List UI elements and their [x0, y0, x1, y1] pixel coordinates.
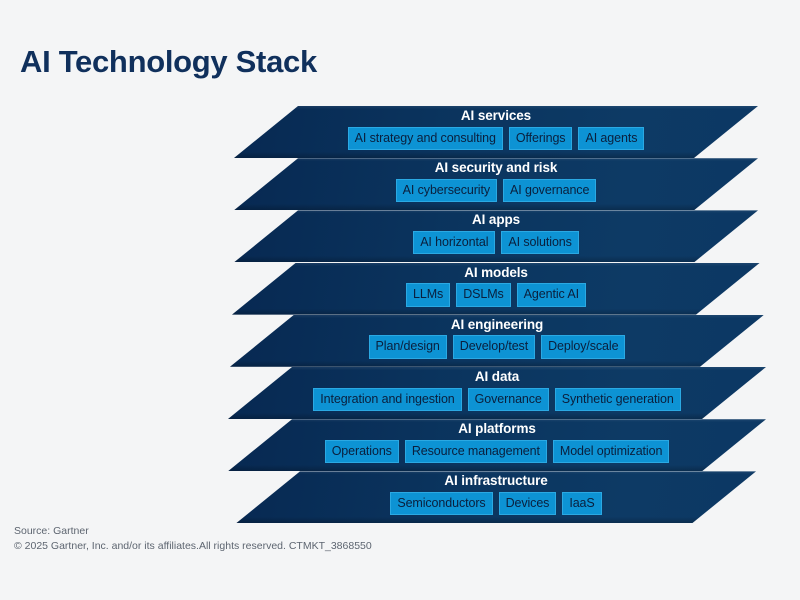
layer-content: AI engineeringPlan/designDevelop/testDep…: [0, 315, 800, 367]
layer-tag[interactable]: Integration and ingestion: [313, 388, 461, 412]
layer-tag[interactable]: LLMs: [406, 283, 450, 307]
footer: Source: Gartner © 2025 Gartner, Inc. and…: [14, 524, 372, 554]
stack-layer[interactable]: AI security and riskAI cybersecurityAI g…: [0, 158, 800, 210]
layer-tag[interactable]: AI horizontal: [413, 231, 495, 255]
layer-content: AI security and riskAI cybersecurityAI g…: [0, 158, 800, 210]
layer-title: AI data: [475, 370, 519, 384]
layer-tag-row: LLMsDSLMsAgentic AI: [406, 283, 586, 307]
layer-title: AI infrastructure: [444, 474, 547, 488]
layer-tag[interactable]: AI solutions: [501, 231, 578, 255]
layer-tag-row: AI cybersecurityAI governance: [396, 179, 597, 203]
stack-layer[interactable]: AI platformsOperationsResource managemen…: [0, 419, 800, 471]
layer-tag[interactable]: Resource management: [405, 440, 547, 464]
layer-tag[interactable]: AI cybersecurity: [396, 179, 497, 203]
layer-tag-row: SemiconductorsDevicesIaaS: [390, 492, 601, 516]
layer-tag-row: OperationsResource managementModel optim…: [325, 440, 670, 464]
layer-tag-row: AI horizontalAI solutions: [413, 231, 579, 255]
layer-content: AI infrastructureSemiconductorsDevicesIa…: [0, 471, 800, 523]
layer-content: AI servicesAI strategy and consultingOff…: [0, 106, 800, 158]
layer-tag[interactable]: Governance: [468, 388, 549, 412]
layer-title: AI models: [464, 266, 528, 280]
stack-layer[interactable]: AI dataIntegration and ingestionGovernan…: [0, 367, 800, 419]
layer-tag[interactable]: AI agents: [578, 127, 644, 151]
ai-technology-stack-diagram: AI servicesAI strategy and consultingOff…: [0, 106, 800, 526]
layer-title: AI platforms: [458, 422, 536, 436]
layer-tag-row: Plan/designDevelop/testDeploy/scale: [369, 335, 626, 359]
layer-tag[interactable]: IaaS: [562, 492, 601, 516]
layer-tag[interactable]: Deploy/scale: [541, 335, 625, 359]
layer-content: AI platformsOperationsResource managemen…: [0, 419, 800, 471]
layer-tag[interactable]: AI strategy and consulting: [348, 127, 503, 151]
layer-tag[interactable]: Agentic AI: [517, 283, 586, 307]
layer-tag[interactable]: Synthetic generation: [555, 388, 681, 412]
stack-layer[interactable]: AI servicesAI strategy and consultingOff…: [0, 106, 800, 158]
stack-layer[interactable]: AI engineeringPlan/designDevelop/testDep…: [0, 315, 800, 367]
page-title: AI Technology Stack: [20, 44, 317, 80]
layer-content: AI modelsLLMsDSLMsAgentic AI: [0, 263, 800, 315]
layer-title: AI services: [461, 109, 531, 123]
layer-tag[interactable]: Develop/test: [453, 335, 535, 359]
layer-tag[interactable]: Operations: [325, 440, 399, 464]
layer-tag[interactable]: AI governance: [503, 179, 596, 203]
layer-tag-row: AI strategy and consultingOfferingsAI ag…: [348, 127, 645, 151]
layer-tag-row: Integration and ingestionGovernanceSynth…: [313, 388, 681, 412]
footer-copyright: © 2025 Gartner, Inc. and/or its affiliat…: [14, 539, 372, 554]
layer-tag[interactable]: Plan/design: [369, 335, 447, 359]
footer-source: Source: Gartner: [14, 524, 372, 539]
stack-layer[interactable]: AI modelsLLMsDSLMsAgentic AI: [0, 263, 800, 315]
layer-title: AI security and risk: [435, 161, 558, 175]
layer-tag[interactable]: Semiconductors: [390, 492, 492, 516]
layer-content: AI dataIntegration and ingestionGovernan…: [0, 367, 800, 419]
layer-content: AI appsAI horizontalAI solutions: [0, 210, 800, 262]
layer-tag[interactable]: Model optimization: [553, 440, 669, 464]
layer-tag[interactable]: Devices: [499, 492, 557, 516]
layer-title: AI apps: [472, 213, 520, 227]
layer-tag[interactable]: DSLMs: [456, 283, 510, 307]
layer-title: AI engineering: [451, 318, 543, 332]
stack-layer[interactable]: AI appsAI horizontalAI solutions: [0, 210, 800, 262]
stack-layer[interactable]: AI infrastructureSemiconductorsDevicesIa…: [0, 471, 800, 523]
layer-tag[interactable]: Offerings: [509, 127, 573, 151]
